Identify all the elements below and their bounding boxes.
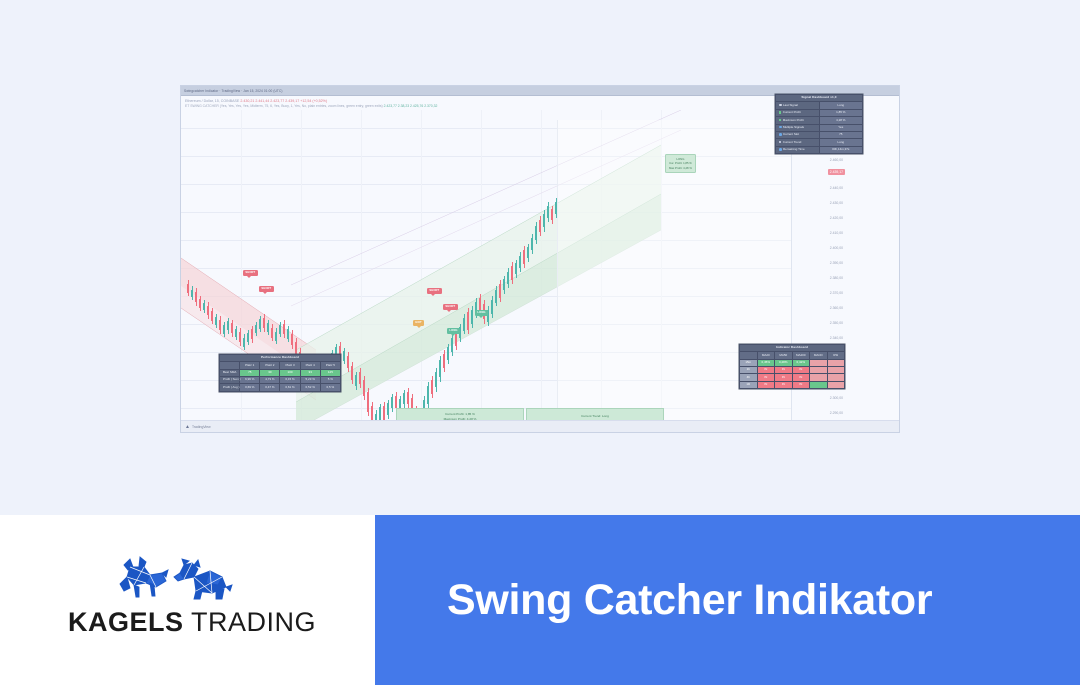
table-row: Maximum Profit 4,28 % [776, 117, 863, 124]
ind-cell [810, 374, 828, 381]
ind-cell: 0,28% [775, 359, 793, 366]
signal-row-label: Last Signal [776, 102, 820, 109]
price-tick: 2.410,00 [830, 231, 843, 235]
ind-cell: IN [775, 367, 793, 374]
signal-label-text: Maximum Profit [783, 118, 804, 122]
perf-cell: 0,69 % [240, 384, 260, 391]
ind-col-3: MA200 [792, 352, 810, 359]
perf-cell: 0,61 % [280, 384, 300, 391]
perf-col-1: Platz 1 [240, 362, 260, 369]
indicator-name[interactable]: ET SWING CATCHER (Yes, Yes, Yes, Yes, Mi… [185, 104, 383, 108]
ind-row-label: 1h [740, 367, 758, 374]
indicator-dashboard-title: Indicator Dashboard [740, 345, 845, 352]
signal-row-value: 75 [819, 132, 863, 139]
price-tick: 2.440,00 [830, 186, 843, 190]
signal-label-text: Remaining Time [783, 147, 805, 151]
clock-icon [779, 104, 782, 107]
signal-label-text: Current Slot [783, 132, 799, 136]
slot-icon [779, 133, 782, 136]
ind-col-5: RSI [827, 352, 845, 359]
signal-row-label: Remaining Time [776, 146, 820, 153]
table-row: 15m 0,45% 0,28% 0,42% [740, 359, 845, 366]
symbol-change: +12,54 (+0,52%) [300, 99, 327, 103]
ind-cell: IN [775, 381, 793, 388]
signal-row-label: Current Profit [776, 109, 820, 116]
signal-dashboard[interactable]: Signal Dashboard v1,0 Last Signal Long C… [775, 94, 863, 154]
table-row: Best SMA 75 30 100 33 125 [220, 369, 341, 376]
price-tick: 2.350,00 [830, 321, 843, 325]
price-tick: 2.370,00 [830, 291, 843, 295]
table-row: Platz 1 Platz 2 Platz 3 Platz 4 Platz 5 [220, 362, 341, 369]
ind-cell [827, 374, 845, 381]
perf-cell: 0,5 % [320, 384, 340, 391]
perf-cell: 6,96 % [240, 377, 260, 384]
signal-row-value: Long [819, 102, 863, 109]
perf-cell: 125 [320, 369, 340, 376]
signal-label-text: Last Signal [783, 103, 798, 107]
tradingview-chart-window[interactable]: Swingcatcher Indicator · TradingView · J… [180, 85, 900, 433]
profit-icon [779, 111, 781, 113]
perf-col-3: Platz 3 [280, 362, 300, 369]
perf-col-0 [220, 362, 240, 369]
perf-cell: 5,23 % [300, 377, 320, 384]
perf-col-5: Platz 5 [320, 362, 340, 369]
perf-row-label: Profit ( Sum ) [220, 377, 240, 384]
signal-tag-long[interactable]: LONG [447, 328, 460, 334]
signal-row-label: Current Trend [776, 139, 820, 146]
ind-col-4: MACD [810, 352, 828, 359]
ind-cell: IN [775, 374, 793, 381]
price-tick: 2.290,00 [830, 411, 843, 415]
performance-dashboard-title: Performance Dashboard [220, 355, 341, 362]
table-row: Profit ( Avg ) 0,69 % 0,47 % 0,61 % 0,52… [220, 384, 341, 391]
signal-row-label: Current Slot [776, 132, 820, 139]
price-tick: 2.460,00 [830, 158, 843, 162]
ind-cell [810, 359, 828, 366]
price-tick: 2.430,00 [830, 201, 843, 205]
price-tick: 2.380,00 [830, 276, 843, 280]
brand-name-light: TRADING [191, 607, 316, 637]
timer-icon [779, 148, 782, 151]
ind-cell [810, 381, 828, 388]
signal-tag-short[interactable]: SHORT [259, 286, 274, 292]
perf-cell: 30 [260, 369, 280, 376]
ind-col-2: MA50 [775, 352, 793, 359]
last-price-label: 2.439,17 [828, 169, 845, 175]
current-position-pill: LONG Cur. Profit: 1,85 % Max Profit: 4,2… [665, 154, 696, 173]
ind-cell: 0,42% [792, 359, 810, 366]
tradingview-logo-icon: ▲ [185, 424, 190, 430]
table-row: 1h IN IN IN [740, 367, 845, 374]
ind-cell [827, 359, 845, 366]
table-row: MA20 MA50 MA200 MACD RSI [740, 352, 845, 359]
price-tick: 2.340,00 [830, 336, 843, 340]
symbol-name[interactable]: Ethereum / Dollar, 15, COINBASE [185, 99, 239, 103]
price-tick: 2.420,00 [830, 216, 843, 220]
pill-line-3: Max Profit: 4,28 % [669, 166, 692, 170]
ind-row-label: 4h [740, 374, 758, 381]
perf-cell: 4,73 % [260, 377, 280, 384]
perf-cell: 75 [240, 369, 260, 376]
page-root: Swingcatcher Indicator · TradingView · J… [0, 0, 1080, 685]
signal-row-label: Maximum Profit [776, 117, 820, 124]
chart-footer-bar[interactable]: ▲ TradingView [181, 420, 900, 432]
signal-tag-long[interactable]: LONG [475, 310, 488, 316]
perf-col-4: Platz 4 [300, 362, 320, 369]
table-row: Current Trend Long [776, 139, 863, 146]
ind-cell: IN [792, 374, 810, 381]
ind-cell [827, 367, 845, 374]
signal-row-value: Long [819, 139, 863, 146]
ind-col-1: MA20 [757, 352, 775, 359]
banner-headline: Swing Catcher Indikator [447, 576, 932, 625]
indicator-values: 2.423,77 2.38,23 2.425,76 2.370,32 [384, 104, 438, 108]
max-profit-icon [779, 119, 781, 121]
table-row: Remaining Time 00h,14m,37s [776, 146, 863, 153]
perf-cell: 0,47 % [260, 384, 280, 391]
ind-cell [810, 367, 828, 374]
ind-cell: IN [792, 367, 810, 374]
perf-cell: 6,15 % [280, 377, 300, 384]
perf-cell: 0,52 % [300, 384, 320, 391]
signal-tag-short[interactable]: SHORT [243, 270, 258, 276]
signal-label-text: Current Trend [783, 140, 802, 144]
ind-row-label: 15m [740, 359, 758, 366]
table-row: Current Slot 75 [776, 132, 863, 139]
signal-row-label: Multiple Signals [776, 124, 820, 131]
ind-cell: IN [792, 381, 810, 388]
signal-row-value: 1,85 % [819, 109, 863, 116]
trend-icon [779, 141, 781, 143]
perf-col-2: Platz 2 [260, 362, 280, 369]
brand-name-bold: KAGELS [68, 607, 184, 637]
signal-tag-short[interactable]: SHORT [427, 288, 442, 294]
perf-row-label: Best SMA [220, 369, 240, 376]
table-row: Last Signal Long [776, 102, 863, 109]
brand-wordmark: KAGELS TRADING [68, 607, 318, 638]
perf-cell: 100 [280, 369, 300, 376]
signal-tag-exit[interactable]: EXIT [413, 320, 424, 326]
perf-cell: 33 [300, 369, 320, 376]
table-row: Profit ( Sum ) 6,96 % 4,73 % 6,15 % 5,23… [220, 377, 341, 384]
ind-cell: IN [757, 374, 775, 381]
symbol-ohlc: 2.430,21 2.441,44 2.423,77 2.439,17 [240, 99, 299, 103]
ind-col-0 [740, 352, 758, 359]
footer-blue-banner: Swing Catcher Indikator [375, 515, 1080, 685]
performance-dashboard[interactable]: Performance Dashboard Platz 1 Platz 2 Pl… [219, 354, 341, 392]
table-row: 1D IN IN IN [740, 381, 845, 388]
ind-row-label: 1D [740, 381, 758, 388]
chart-titlebar-text: Swingcatcher Indicator · TradingView · J… [184, 89, 283, 93]
signal-row-value: 4,28 % [819, 117, 863, 124]
brand-logo[interactable]: KAGELS TRADING [68, 553, 318, 648]
ind-cell: IN [757, 381, 775, 388]
indicator-dashboard[interactable]: Indicator Dashboard MA20 MA50 MA200 MACD… [739, 344, 845, 389]
price-tick: 2.390,00 [830, 261, 843, 265]
signal-row-value: Yes [819, 124, 863, 131]
tradingview-label[interactable]: TradingView [192, 425, 211, 429]
trend-banner-line-1: Current Trend: Long [581, 414, 609, 419]
price-tick: 2.300,00 [830, 396, 843, 400]
bull-and-bear-icon [106, 553, 246, 603]
table-row: 4h IN IN IN [740, 374, 845, 381]
ind-cell: IN [757, 367, 775, 374]
price-tick: 2.400,00 [830, 246, 843, 250]
table-row: Current Profit 1,85 % [776, 109, 863, 116]
perf-row-label: Profit ( Avg ) [220, 384, 240, 391]
signal-dashboard-title: Signal Dashboard v1,0 [776, 95, 863, 102]
ind-cell: 0,45% [757, 359, 775, 366]
signals-icon [779, 126, 782, 129]
signal-row-value: 00h,14m,37s [819, 146, 863, 153]
signal-label-text: Current Profit [783, 110, 801, 114]
signal-label-text: Multiple Signals [783, 125, 804, 129]
perf-cell: 5 % [320, 377, 340, 384]
ind-cell [827, 381, 845, 388]
price-tick: 2.360,00 [830, 306, 843, 310]
table-row: Multiple Signals Yes [776, 124, 863, 131]
signal-tag-short[interactable]: SHORT [443, 304, 458, 310]
